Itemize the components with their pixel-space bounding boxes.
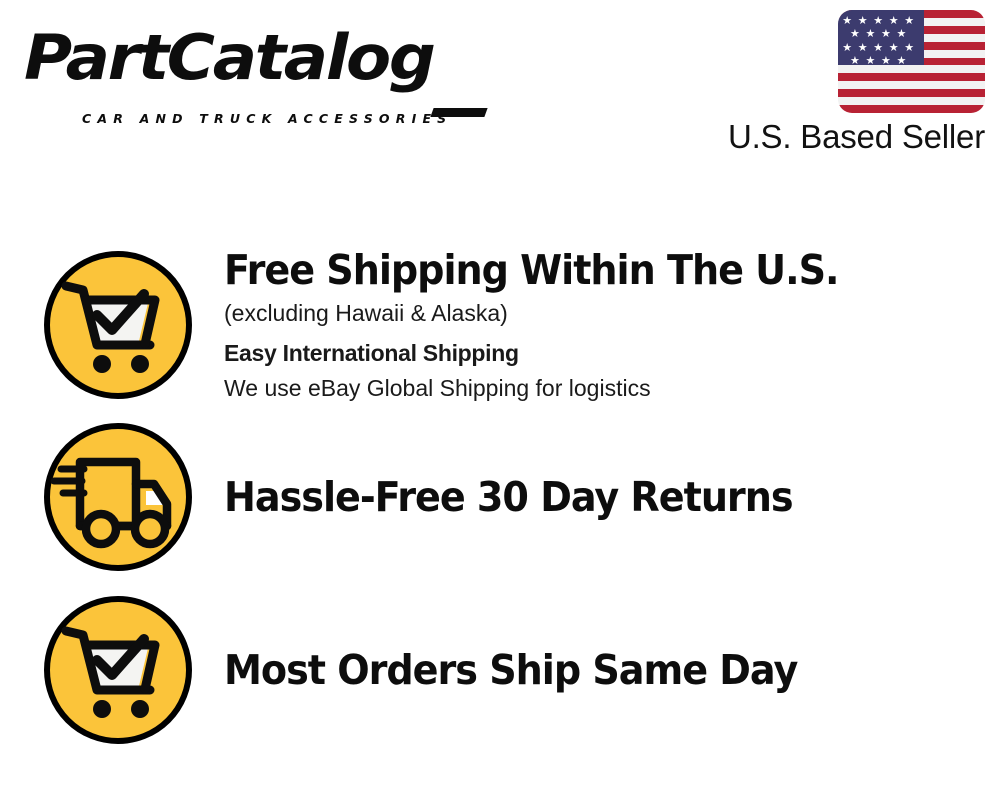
brand-logo[interactable]: PartCatalog CAR AND TRUCK ACCESSORIES bbox=[24, 22, 494, 118]
feature-headline: Hassle-Free 30 Day Returns bbox=[224, 472, 927, 522]
flag-star: ★ bbox=[889, 42, 899, 53]
shopping-cart-check-icon bbox=[44, 596, 192, 744]
flag-star: ★ bbox=[904, 42, 914, 53]
flag-star: ★ bbox=[842, 42, 852, 53]
feature-subline-exclusions: (excluding Hawaii & Alaska) bbox=[224, 297, 980, 330]
flag-canton: ★★★★★★★★★★★★★★★★★★ bbox=[838, 10, 924, 65]
feature-text-returns: Hassle-Free 30 Day Returns bbox=[224, 472, 1000, 522]
flag-star: ★ bbox=[904, 15, 914, 26]
brand-wordmark: PartCatalog bbox=[24, 22, 434, 94]
flag-stripe bbox=[838, 73, 985, 81]
cart-check-glyph bbox=[50, 602, 186, 738]
feature-headline: Most Orders Ship Same Day bbox=[224, 645, 927, 695]
flag-star: ★ bbox=[873, 42, 883, 53]
flag-star: ★ bbox=[873, 15, 883, 26]
flag-star: ★ bbox=[858, 15, 868, 26]
cart-check-glyph bbox=[50, 257, 186, 393]
truck-glyph bbox=[50, 429, 186, 565]
flag-star: ★ bbox=[858, 42, 868, 53]
delivery-truck-icon bbox=[44, 423, 192, 571]
feature-subline-international-title: Easy International Shipping bbox=[224, 337, 980, 370]
feature-row-same-day: Most Orders Ship Same Day bbox=[0, 585, 1000, 755]
flag-star: ★ bbox=[866, 55, 876, 66]
us-based-seller-label: U.S. Based Seller bbox=[728, 118, 985, 156]
flag-star: ★ bbox=[866, 28, 876, 39]
flag-stripe bbox=[838, 65, 985, 73]
flag-star: ★ bbox=[896, 55, 906, 66]
feature-text-same-day: Most Orders Ship Same Day bbox=[224, 645, 1000, 695]
feature-text-free-shipping: Free Shipping Within The U.S. (excluding… bbox=[224, 245, 1000, 405]
flag-star: ★ bbox=[889, 15, 899, 26]
flag-star: ★ bbox=[896, 28, 906, 39]
feature-headline: Free Shipping Within The U.S. bbox=[224, 245, 927, 295]
flag-star: ★ bbox=[850, 55, 860, 66]
flag-stripe bbox=[838, 89, 985, 97]
flag-stripe bbox=[838, 81, 985, 89]
page-header: PartCatalog CAR AND TRUCK ACCESSORIES ★★… bbox=[0, 0, 1000, 175]
flag-star: ★ bbox=[850, 28, 860, 39]
flag-star: ★ bbox=[881, 28, 891, 39]
flag-stripe bbox=[838, 97, 985, 105]
flag-stripe bbox=[838, 105, 985, 113]
feature-row-returns: Hassle-Free 30 Day Returns bbox=[0, 412, 1000, 582]
feature-subline-international-detail: We use eBay Global Shipping for logistic… bbox=[224, 372, 980, 405]
us-flag-icon: ★★★★★★★★★★★★★★★★★★ bbox=[838, 10, 985, 113]
brand-tagline: CAR AND TRUCK ACCESSORIES bbox=[82, 111, 452, 126]
flag-star: ★ bbox=[842, 15, 852, 26]
shopping-cart-check-icon bbox=[44, 251, 192, 399]
flag-star: ★ bbox=[881, 55, 891, 66]
feature-row-free-shipping: Free Shipping Within The U.S. (excluding… bbox=[0, 240, 1000, 410]
